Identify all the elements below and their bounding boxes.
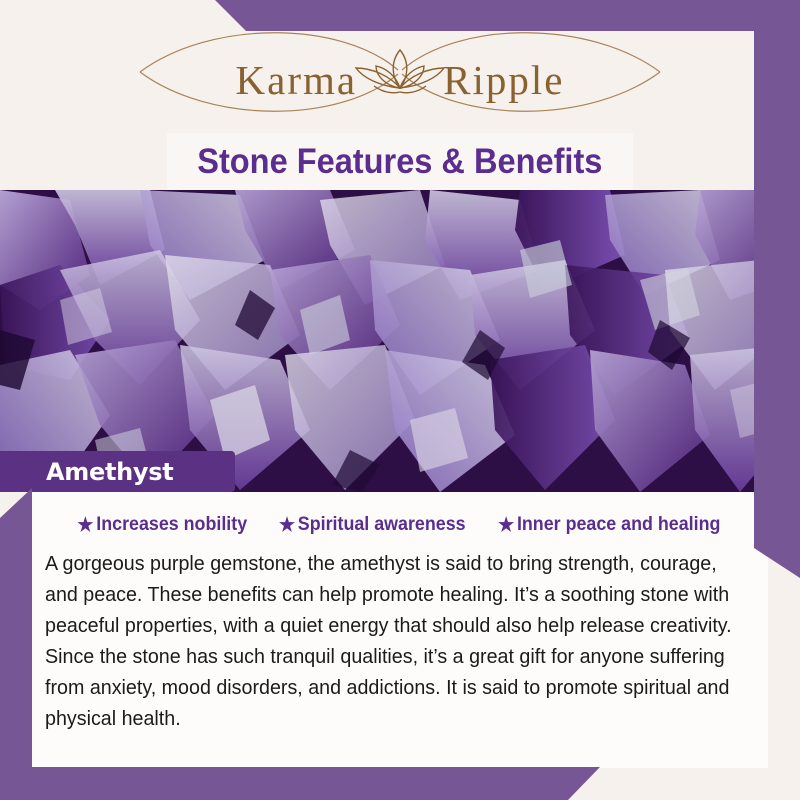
benefit-label-1: Increases nobility [96,514,247,536]
star-icon: ★ [498,516,514,535]
frame-band-left [0,488,32,800]
benefit-label-3: Inner peace and healing [517,514,720,536]
stone-name-banner: Amethyst [0,451,235,492]
page-title: Stone Features & Benefits [197,142,602,182]
page-title-plaque: Stone Features & Benefits [167,133,633,190]
benefit-item-1: ★ Increases nobility [78,514,248,536]
star-icon: ★ [78,516,94,535]
stone-description: A gorgeous purple gemstone, the amethyst… [45,548,744,734]
content-card: ★ Increases nobility ★ Spiritual awarene… [32,492,768,768]
benefit-item-2: ★ Spiritual awareness [279,514,466,536]
frame-band-right [754,0,800,578]
star-icon: ★ [279,516,295,535]
benefit-label-2: Spiritual awareness [298,514,466,536]
stone-info-poster: KarmaRipple Stone Features & Benefits Am… [0,0,800,800]
benefit-item-3: ★ Inner peace and healing [498,514,720,536]
amethyst-photo [0,190,800,492]
lotus-flourish-icon [80,26,720,118]
benefits-list: ★ Increases nobility ★ Spiritual awarene… [32,492,768,536]
frame-band-bottom [0,767,800,800]
stone-name: Amethyst [46,458,173,486]
brand-logo: KarmaRipple [0,26,800,118]
